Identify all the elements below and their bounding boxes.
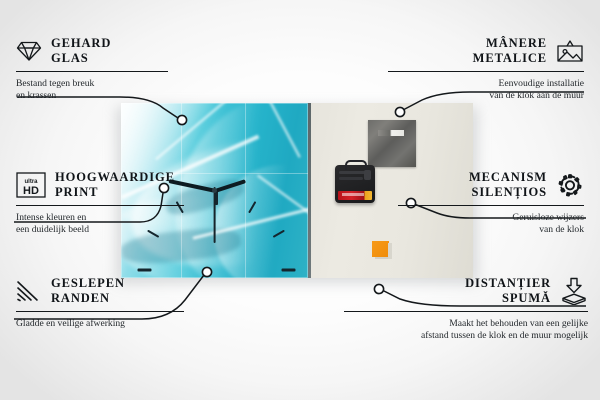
callout-title-line: METALICE	[473, 51, 547, 66]
mechanism-knob	[364, 170, 371, 180]
callout-title-line: MECANISM	[469, 170, 547, 185]
diagonal-lines-icon	[16, 279, 42, 303]
callout-title-line: HOOGWAARDIGE	[55, 170, 175, 185]
ultra-hd-icon: ultra HD	[16, 172, 46, 198]
callout-rule	[344, 311, 588, 312]
metal-handle-plate	[368, 120, 416, 167]
callout-rule	[16, 311, 184, 312]
callout-distantier-spuma[interactable]: DISTANȚIER SPUMĂ Maakt het behouden van …	[330, 276, 588, 343]
hanger-loop	[345, 160, 367, 170]
callout-subtitle-line: Geruisloze wijzers	[384, 212, 584, 224]
callout-subtitle-line: afstand tussen de klok en de muur mogeli…	[330, 330, 588, 342]
callout-title-line: SILENȚIOS	[472, 185, 548, 200]
down-arrow-stack-icon	[560, 277, 588, 305]
callout-title-line: MÂNERE	[486, 36, 547, 51]
clock-hour-hand	[212, 179, 246, 193]
clock-tick	[272, 229, 284, 237]
callout-header: MECANISM SILENȚIOS	[384, 170, 584, 200]
clock-second-hand	[214, 187, 216, 243]
callout-header: ultra HD HOOGWAARDIGE PRINT	[16, 170, 201, 200]
callout-title: MECANISM SILENȚIOS	[469, 170, 547, 200]
callout-subtitle-line: en krassen	[16, 90, 181, 102]
callout-gehard-glas[interactable]: GEHARD GLAS Bestand tegen breuk en krass…	[16, 36, 181, 103]
mechanism-ridge	[339, 177, 363, 180]
infographic-canvas: GEHARD GLAS Bestand tegen breuk en krass…	[0, 0, 600, 400]
callout-subtitle-line: Gladde en veilige afwerking	[16, 318, 196, 330]
diamond-icon	[16, 40, 42, 62]
callout-rule	[16, 71, 168, 72]
battery-label	[342, 193, 364, 196]
gear-icon	[556, 172, 584, 199]
quartz-mechanism-box	[335, 165, 375, 203]
plate-slot	[378, 130, 404, 136]
callout-subtitle-line: Bestand tegen breuk	[16, 78, 181, 90]
battery	[338, 191, 372, 200]
callout-manere-metalice[interactable]: MÂNERE METALICE Eenvoudige installatie v…	[374, 36, 584, 103]
callout-title: GEHARD GLAS	[51, 36, 111, 66]
clock-tick	[248, 201, 256, 213]
clock-tick	[281, 268, 295, 271]
picture-frame-icon	[556, 39, 584, 63]
callout-title-line: GEHARD	[51, 36, 111, 51]
callout-header: GESLEPEN RANDEN	[16, 276, 196, 306]
callout-subtitle-line: Eenvoudige installatie	[374, 78, 584, 90]
callout-subtitle-line: Intense kleuren en	[16, 212, 201, 224]
callout-header: GEHARD GLAS	[16, 36, 181, 66]
callout-title-line: GESLEPEN	[51, 276, 125, 291]
callout-title-line: SPUMĂ	[502, 291, 551, 306]
callout-header: DISTANȚIER SPUMĂ	[330, 276, 588, 306]
callout-hoogwaardige-print[interactable]: ultra HD HOOGWAARDIGE PRINT Intense kleu…	[16, 170, 201, 237]
clock-tick	[137, 268, 151, 271]
callout-rule	[388, 71, 584, 72]
callout-header: MÂNERE METALICE	[374, 36, 584, 66]
svg-text:HD: HD	[23, 185, 39, 197]
callout-title: GESLEPEN RANDEN	[51, 276, 125, 306]
callout-title-line: PRINT	[55, 185, 175, 200]
callout-title: MÂNERE METALICE	[473, 36, 547, 66]
callout-subtitle-line: Maakt het behouden van een gelijke	[330, 318, 588, 330]
callout-title: DISTANȚIER SPUMĂ	[465, 276, 551, 306]
callout-mecanism-silentios[interactable]: MECANISM SILENȚIOS Geruisloze wijzers va…	[384, 170, 584, 237]
callout-rule	[398, 205, 584, 206]
foam-spacer	[372, 241, 389, 257]
clock-hub-cap	[212, 188, 217, 193]
callout-geslepen-randen[interactable]: GESLEPEN RANDEN Gladde en veilige afwerk…	[16, 276, 196, 330]
callout-rule	[16, 205, 184, 206]
callout-subtitle-line: van de klok aan de muur	[374, 90, 584, 102]
callout-title-line: RANDEN	[51, 291, 125, 306]
callout-title-line: GLAS	[51, 51, 111, 66]
callout-subtitle-line: een duidelijk beeld	[16, 224, 201, 236]
callout-title-line: DISTANȚIER	[465, 276, 551, 291]
callout-subtitle-line: van de klok	[384, 224, 584, 236]
callout-title: HOOGWAARDIGE PRINT	[55, 170, 175, 200]
